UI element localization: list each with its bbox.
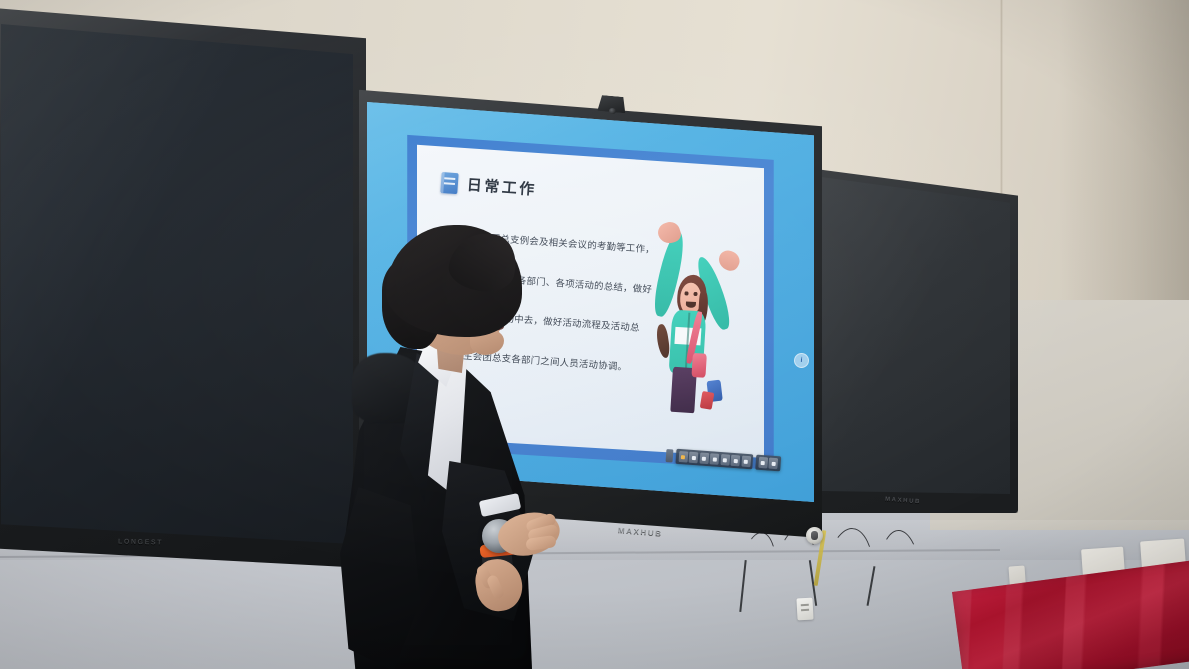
prev-slide-button[interactable] (758, 457, 768, 469)
next-slide-button[interactable] (769, 457, 779, 469)
right-interactive-display[interactable] (808, 168, 1018, 513)
eraser-tool-button[interactable] (710, 453, 720, 465)
classroom-presentation-scene: LONGEST MAXHUB 日常工作 做好学生会团总支例会及相关会议的考勤等工… (0, 0, 1189, 669)
slide-header: 日常工作 (440, 172, 537, 200)
left-display-brand-logo: LONGEST (118, 539, 163, 547)
slide-title: 日常工作 (466, 174, 537, 200)
highlighter-tool-button[interactable] (699, 452, 709, 464)
clear-tool-button[interactable] (731, 454, 741, 466)
wall-corner-shadow (1059, 0, 1189, 330)
presenter (330, 225, 610, 669)
pen-tool-button[interactable] (679, 451, 689, 463)
celebrating-student-illustration (633, 221, 756, 417)
toolbar-nav-group[interactable] (756, 454, 782, 471)
document-icon (440, 172, 458, 194)
toolbar-handle[interactable] (666, 449, 674, 462)
presenter-finger (525, 535, 556, 551)
wall-power-outlet (796, 598, 813, 621)
pointer-tool-button[interactable] (689, 451, 699, 463)
info-icon[interactable]: i (793, 353, 809, 369)
more-tool-button[interactable] (741, 455, 751, 467)
left-display-screen[interactable] (1, 24, 353, 544)
right-display-screen[interactable] (814, 176, 1010, 494)
shapes-tool-button[interactable] (720, 454, 730, 466)
info-icon-glyph: i (800, 357, 802, 364)
left-interactive-display[interactable] (0, 8, 366, 568)
wall-mounted-round-fixture (806, 527, 823, 544)
